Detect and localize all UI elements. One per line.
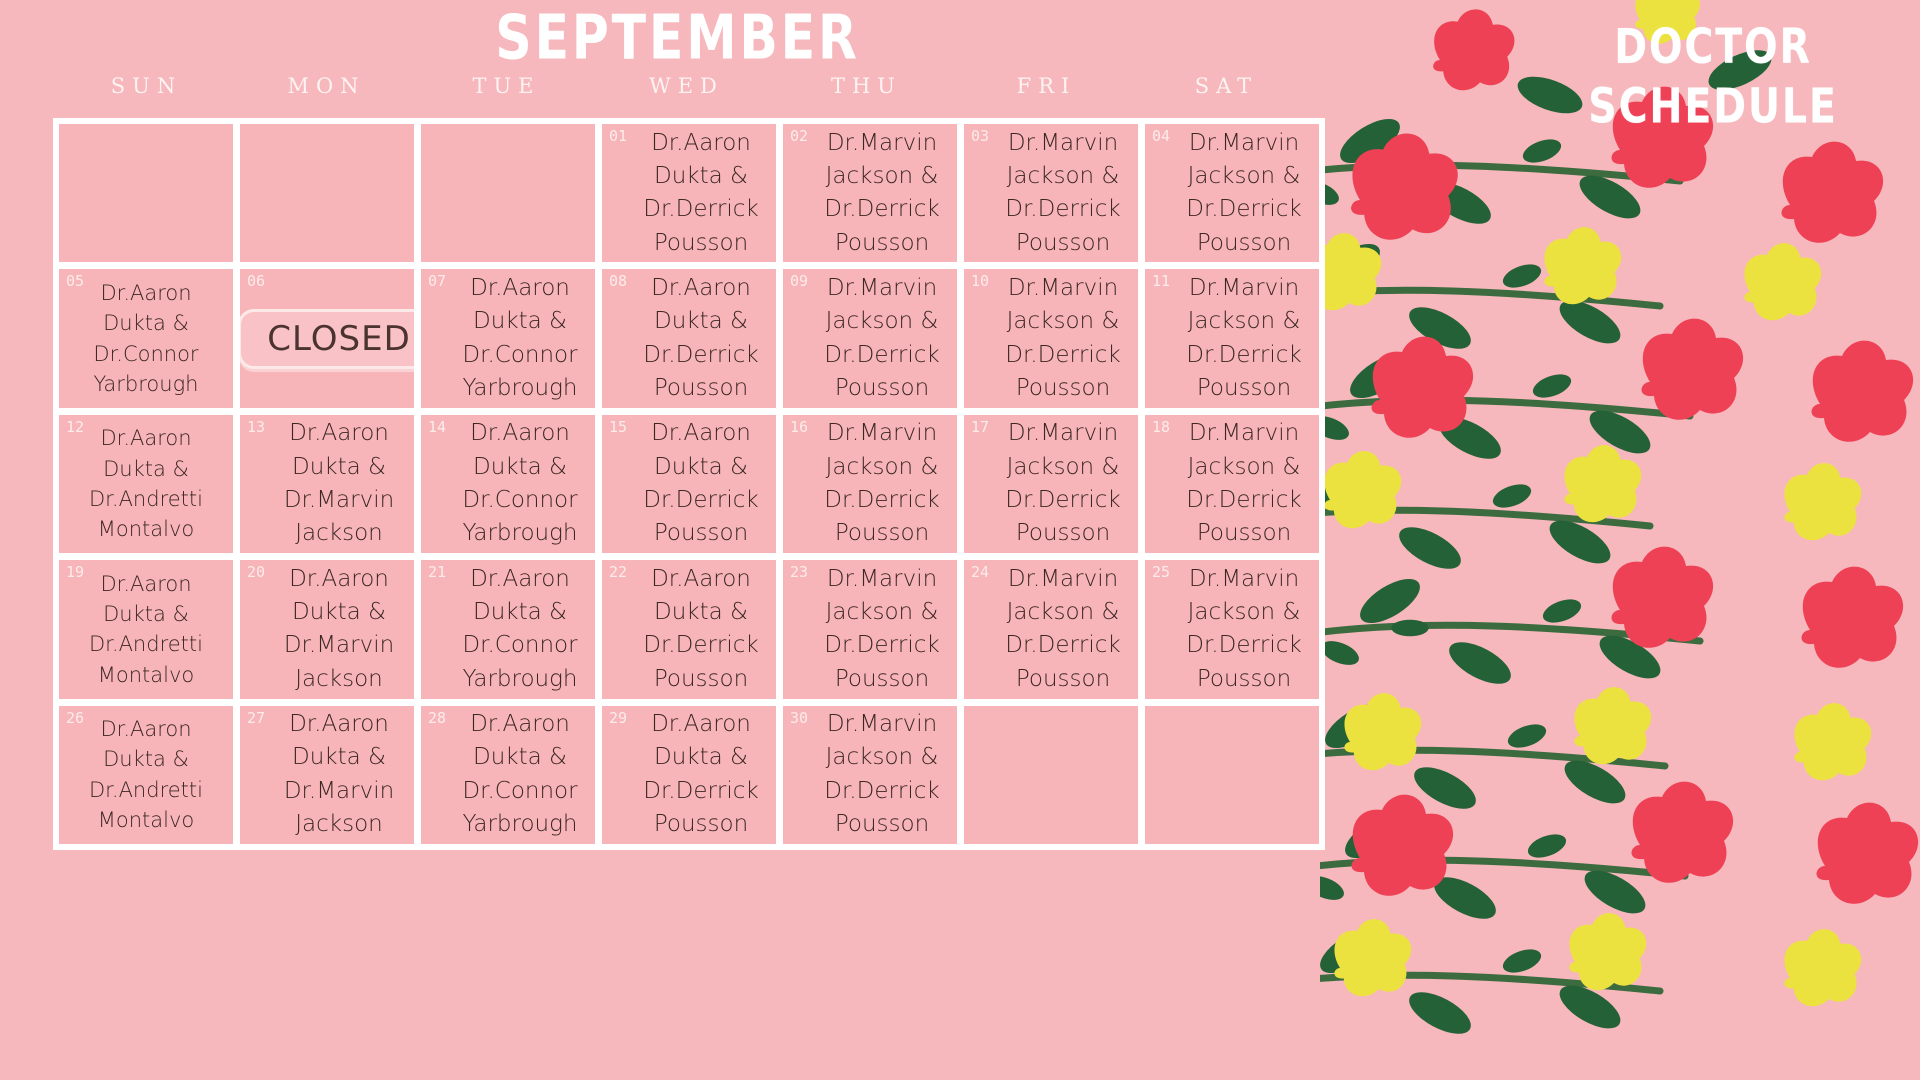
day-number: 28: [428, 711, 446, 726]
day-cell[interactable]: 16Dr.Marvin Jackson & Dr.Derrick Pousson: [783, 415, 957, 553]
day-assignment-text: Dr.Marvin Jackson & Dr.Derrick Pousson: [994, 127, 1132, 260]
day-cell[interactable]: 02Dr.Marvin Jackson & Dr.Derrick Pousson: [783, 124, 957, 262]
day-assignment-text: Dr.Marvin Jackson & Dr.Derrick Pousson: [813, 417, 951, 550]
weekday-label-tue: TUE: [413, 74, 593, 98]
day-number: 25: [1152, 565, 1170, 580]
day-cell[interactable]: 21Dr.Aaron Dukta & Dr.Connor Yarbrough: [421, 560, 595, 698]
day-cell[interactable]: 17Dr.Marvin Jackson & Dr.Derrick Pousson: [964, 415, 1138, 553]
day-assignment-text: Dr.Marvin Jackson & Dr.Derrick Pousson: [994, 563, 1132, 696]
day-cell[interactable]: 20Dr.Aaron Dukta & Dr.Marvin Jackson: [240, 560, 414, 698]
day-assignment-text: Dr.Aaron Dukta & Dr.Connor Yarbrough: [451, 272, 589, 405]
day-assignment-text: Dr.Aaron Dukta & Dr.Derrick Pousson: [632, 708, 770, 841]
closed-badge: CLOSED: [240, 309, 414, 369]
day-assignment-text: Dr.Marvin Jackson & Dr.Derrick Pousson: [813, 272, 951, 405]
day-cell-empty: [59, 124, 233, 262]
day-cell[interactable]: 11Dr.Marvin Jackson & Dr.Derrick Pousson: [1145, 269, 1319, 407]
day-cell[interactable]: 10Dr.Marvin Jackson & Dr.Derrick Pousson: [964, 269, 1138, 407]
day-assignment-text: Dr.Marvin Jackson & Dr.Derrick Pousson: [813, 563, 951, 696]
day-cell[interactable]: 01Dr.Aaron Dukta & Dr.Derrick Pousson: [602, 124, 776, 262]
brand-title: DOCTOR SCHEDULE: [1524, 18, 1902, 136]
day-cell[interactable]: 24Dr.Marvin Jackson & Dr.Derrick Pousson: [964, 560, 1138, 698]
brand-line-1: DOCTOR: [1524, 18, 1902, 77]
day-number: 18: [1152, 420, 1170, 435]
day-cell[interactable]: 04Dr.Marvin Jackson & Dr.Derrick Pousson: [1145, 124, 1319, 262]
weekday-label-wed: WED: [593, 74, 773, 98]
page-title: SEPTEMBER: [54, 6, 1301, 71]
day-number: 17: [971, 420, 989, 435]
day-assignment-text: Dr.Aaron Dukta & Dr.Connor Yarbrough: [451, 563, 589, 696]
day-cell[interactable]: 26Dr.Aaron Dukta & Dr.Andretti Montalvo: [59, 706, 233, 844]
day-cell[interactable]: 06CLOSED: [240, 269, 414, 407]
day-cell[interactable]: 28Dr.Aaron Dukta & Dr.Connor Yarbrough: [421, 706, 595, 844]
weekday-label-mon: MON: [233, 74, 413, 98]
day-number: 24: [971, 565, 989, 580]
day-number: 03: [971, 129, 989, 144]
day-assignment-text: Dr.Aaron Dukta & Dr.Derrick Pousson: [632, 417, 770, 550]
day-cell[interactable]: 08Dr.Aaron Dukta & Dr.Derrick Pousson: [602, 269, 776, 407]
day-number: 01: [609, 129, 627, 144]
day-assignment-text: Dr.Aaron Dukta & Dr.Andretti Montalvo: [67, 714, 225, 836]
day-number: 08: [609, 274, 627, 289]
day-assignment-text: Dr.Marvin Jackson & Dr.Derrick Pousson: [813, 127, 951, 260]
day-number: 23: [790, 565, 808, 580]
weekday-label-sat: SAT: [1133, 74, 1313, 98]
day-number: 13: [247, 420, 265, 435]
day-cell[interactable]: 12Dr.Aaron Dukta & Dr.Andretti Montalvo: [59, 415, 233, 553]
day-number: 29: [609, 711, 627, 726]
day-assignment-text: Dr.Marvin Jackson & Dr.Derrick Pousson: [994, 417, 1132, 550]
day-assignment-text: Dr.Marvin Jackson & Dr.Derrick Pousson: [994, 272, 1132, 405]
day-cell-empty: [421, 124, 595, 262]
day-cell[interactable]: 18Dr.Marvin Jackson & Dr.Derrick Pousson: [1145, 415, 1319, 553]
day-assignment-text: Dr.Aaron Dukta & Dr.Andretti Montalvo: [67, 569, 225, 691]
day-assignment-text: Dr.Aaron Dukta & Dr.Marvin Jackson: [270, 708, 408, 841]
day-number: 12: [66, 420, 84, 435]
floral-decoration: [1320, 0, 1920, 1080]
day-assignment-text: Dr.Marvin Jackson & Dr.Derrick Pousson: [1175, 417, 1313, 550]
calendar-page: SEPTEMBER DOCTOR SCHEDULE SUNMONTUEWEDTH…: [0, 0, 1920, 1080]
calendar-grid: 01Dr.Aaron Dukta & Dr.Derrick Pousson02D…: [53, 118, 1325, 850]
day-number: 26: [66, 711, 84, 726]
day-number: 27: [247, 711, 265, 726]
day-number: 09: [790, 274, 808, 289]
day-assignment-text: Dr.Aaron Dukta & Dr.Marvin Jackson: [270, 563, 408, 696]
day-number: 14: [428, 420, 446, 435]
day-number: 06: [247, 274, 265, 289]
weekday-label-sun: SUN: [53, 74, 233, 98]
day-assignment-text: Dr.Aaron Dukta & Dr.Derrick Pousson: [632, 272, 770, 405]
day-number: 11: [1152, 274, 1170, 289]
day-assignment-text: Dr.Aaron Dukta & Dr.Andretti Montalvo: [67, 423, 225, 545]
day-number: 21: [428, 565, 446, 580]
day-cell[interactable]: 05Dr.Aaron Dukta & Dr.Connor Yarbrough: [59, 269, 233, 407]
day-cell-empty: [964, 706, 1138, 844]
day-cell[interactable]: 14Dr.Aaron Dukta & Dr.Connor Yarbrough: [421, 415, 595, 553]
day-number: 05: [66, 274, 84, 289]
day-number: 16: [790, 420, 808, 435]
day-cell-empty: [240, 124, 414, 262]
day-cell[interactable]: 13Dr.Aaron Dukta & Dr.Marvin Jackson: [240, 415, 414, 553]
day-number: 19: [66, 565, 84, 580]
day-assignment-text: Dr.Aaron Dukta & Dr.Connor Yarbrough: [451, 417, 589, 550]
day-cell-empty: [1145, 706, 1319, 844]
day-cell[interactable]: 27Dr.Aaron Dukta & Dr.Marvin Jackson: [240, 706, 414, 844]
day-number: 30: [790, 711, 808, 726]
day-cell[interactable]: 19Dr.Aaron Dukta & Dr.Andretti Montalvo: [59, 560, 233, 698]
weekday-header-row: SUNMONTUEWEDTHUFRISAT: [53, 74, 1313, 98]
day-number: 10: [971, 274, 989, 289]
day-number: 20: [247, 565, 265, 580]
day-cell[interactable]: 25Dr.Marvin Jackson & Dr.Derrick Pousson: [1145, 560, 1319, 698]
day-cell[interactable]: 03Dr.Marvin Jackson & Dr.Derrick Pousson: [964, 124, 1138, 262]
weekday-label-thu: THU: [773, 74, 953, 98]
day-assignment-text: Dr.Marvin Jackson & Dr.Derrick Pousson: [1175, 563, 1313, 696]
day-cell[interactable]: 23Dr.Marvin Jackson & Dr.Derrick Pousson: [783, 560, 957, 698]
day-cell[interactable]: 15Dr.Aaron Dukta & Dr.Derrick Pousson: [602, 415, 776, 553]
weekday-label-fri: FRI: [953, 74, 1133, 98]
day-cell[interactable]: 29Dr.Aaron Dukta & Dr.Derrick Pousson: [602, 706, 776, 844]
day-assignment-text: Dr.Aaron Dukta & Dr.Derrick Pousson: [632, 127, 770, 260]
day-assignment-text: Dr.Aaron Dukta & Dr.Marvin Jackson: [270, 417, 408, 550]
day-number: 07: [428, 274, 446, 289]
day-cell[interactable]: 30Dr.Marvin Jackson & Dr.Derrick Pousson: [783, 706, 957, 844]
day-cell[interactable]: 09Dr.Marvin Jackson & Dr.Derrick Pousson: [783, 269, 957, 407]
day-number: 22: [609, 565, 627, 580]
day-number: 02: [790, 129, 808, 144]
day-assignment-text: Dr.Aaron Dukta & Dr.Connor Yarbrough: [451, 708, 589, 841]
day-number: 04: [1152, 129, 1170, 144]
day-cell[interactable]: 07Dr.Aaron Dukta & Dr.Connor Yarbrough: [421, 269, 595, 407]
day-cell[interactable]: 22Dr.Aaron Dukta & Dr.Derrick Pousson: [602, 560, 776, 698]
day-assignment-text: Dr.Marvin Jackson & Dr.Derrick Pousson: [813, 708, 951, 841]
day-assignment-text: Dr.Marvin Jackson & Dr.Derrick Pousson: [1175, 127, 1313, 260]
day-assignment-text: Dr.Aaron Dukta & Dr.Derrick Pousson: [632, 563, 770, 696]
day-assignment-text: Dr.Aaron Dukta & Dr.Connor Yarbrough: [67, 278, 225, 400]
brand-line-2: SCHEDULE: [1524, 77, 1902, 136]
day-assignment-text: Dr.Marvin Jackson & Dr.Derrick Pousson: [1175, 272, 1313, 405]
day-number: 15: [609, 420, 627, 435]
